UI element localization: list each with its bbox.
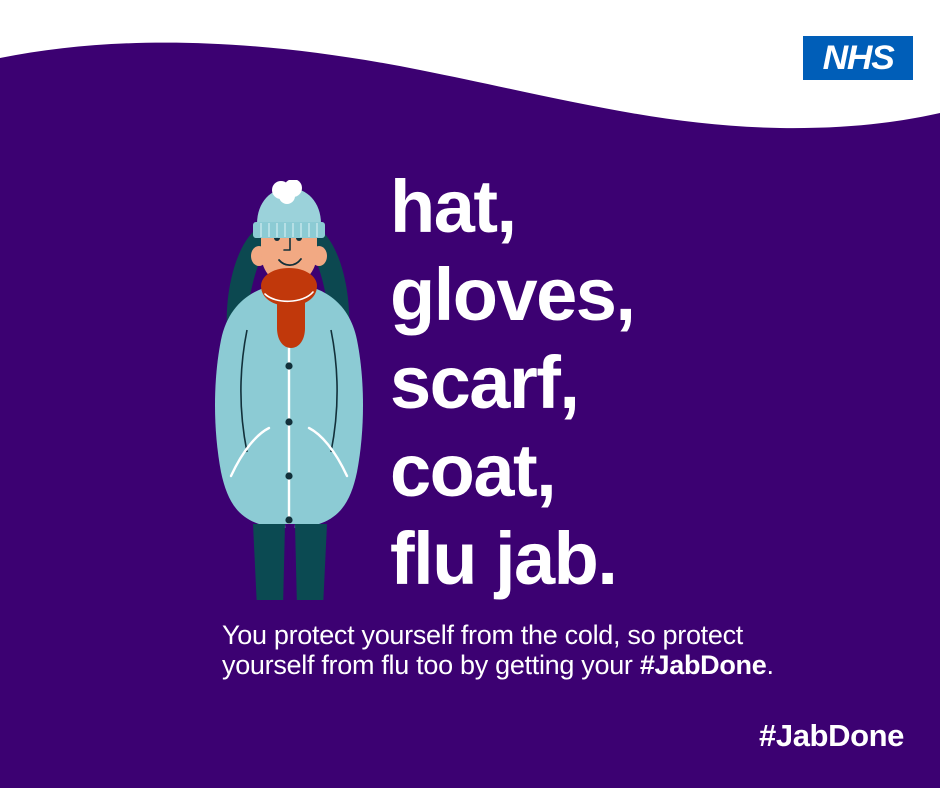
headline-line-4: coat, bbox=[390, 427, 810, 515]
headline-line-3: scarf, bbox=[390, 339, 810, 427]
body-copy: You protect yourself from the cold, so p… bbox=[222, 620, 822, 680]
person-in-winter-clothing-illustration bbox=[195, 180, 395, 600]
nhs-logo-text: NHS bbox=[823, 41, 894, 75]
footer-hashtag: #JabDone bbox=[759, 718, 904, 754]
nhs-logo: NHS bbox=[803, 36, 913, 80]
nhs-flu-campaign-poster: NHS bbox=[0, 0, 940, 788]
body-copy-period: . bbox=[766, 650, 773, 680]
headline: hat, gloves, scarf, coat, flu jab. bbox=[390, 163, 810, 603]
headline-line-1: hat, bbox=[390, 163, 810, 251]
headline-line-5: flu jab. bbox=[390, 515, 810, 603]
headline-line-2: gloves, bbox=[390, 251, 810, 339]
body-copy-hashtag: #JabDone bbox=[640, 650, 767, 680]
